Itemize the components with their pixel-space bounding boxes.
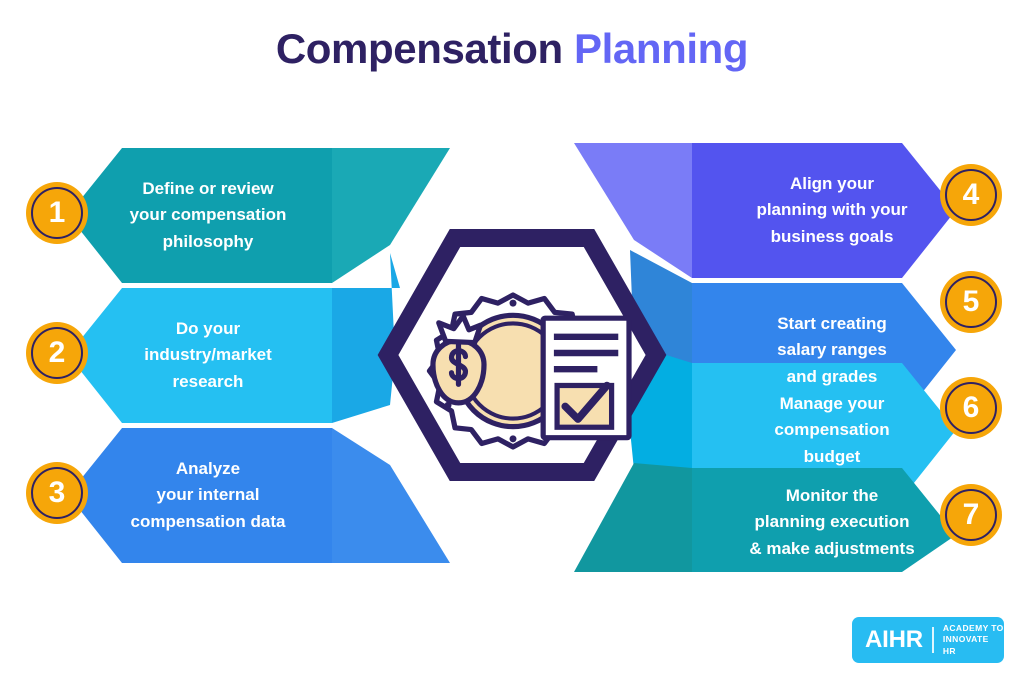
step-badge-4[interactable]: 4 [940,164,1002,226]
step-3-label: Analyze your internal compensation data [108,438,308,553]
step-7-label: Monitor the planning execution & make ad… [722,470,942,575]
step-badge-6[interactable]: 6 [940,377,1002,439]
checklist-document-icon [543,318,629,437]
step-4-label: Align your planning with your business g… [728,153,936,268]
logo-tagline: ACADEMY TO INNOVATE HR [943,623,1004,657]
step-badge-7[interactable]: 7 [940,484,1002,546]
step-badge-2-number: 2 [49,338,66,368]
step-badge-5-number: 5 [963,287,980,317]
gear-dot-bottom [510,435,517,442]
aihr-logo[interactable]: AIHR ACADEMY TO INNOVATE HR [852,617,1004,663]
step-badge-5[interactable]: 5 [940,271,1002,333]
step-badge-6-number: 6 [963,393,980,423]
step-badge-4-number: 4 [963,180,980,210]
step-badge-1-number: 1 [49,198,66,228]
money-gear-checklist-icon [429,295,629,447]
money-bag-icon [433,316,484,403]
step-1-label: Define or review your compensation philo… [108,158,308,273]
infographic-root: Compensation Planning [0,0,1024,680]
step-badge-7-number: 7 [963,500,980,530]
step-2-label: Do your industry/market research [108,298,308,413]
logo-divider [932,627,934,653]
step-badge-3[interactable]: 3 [26,462,88,524]
logo-wordmark: AIHR [865,628,923,652]
step-badge-3-number: 3 [49,478,66,508]
gear-dot-top [510,300,517,307]
step-badge-1[interactable]: 1 [26,182,88,244]
step-badge-2[interactable]: 2 [26,322,88,384]
